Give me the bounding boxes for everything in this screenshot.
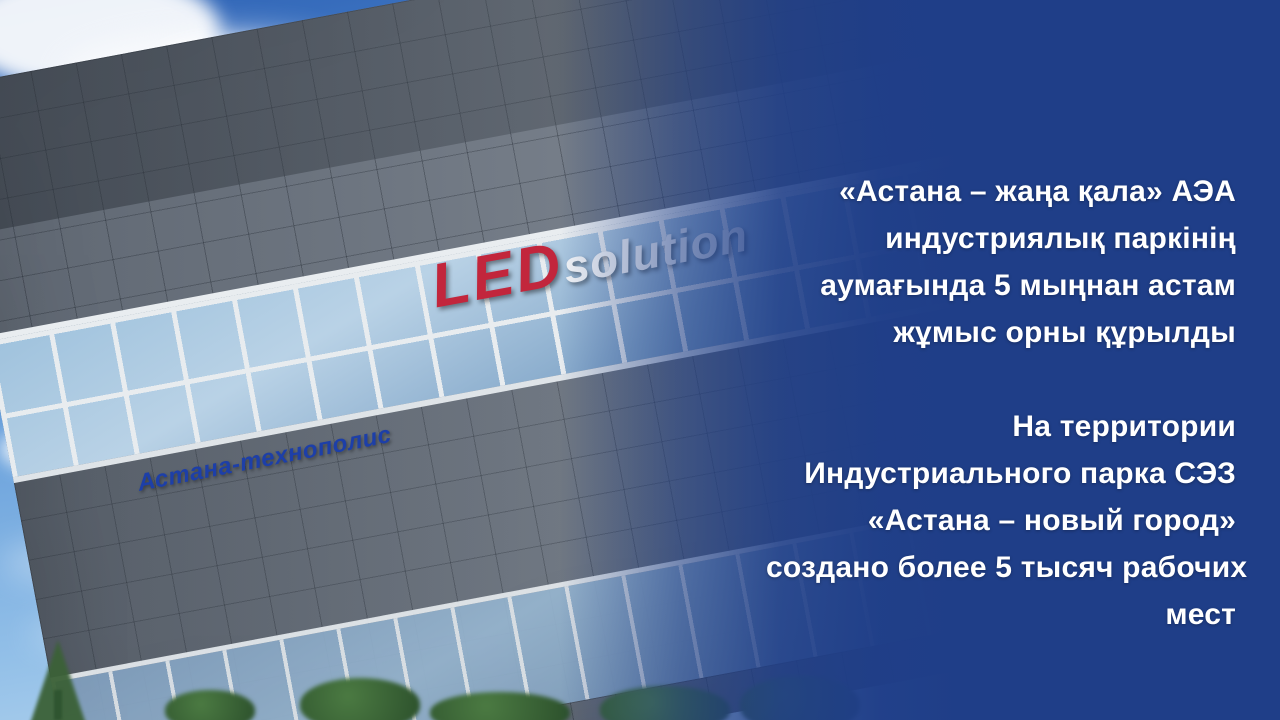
kazakh-line-3: аумағында 5 мыңнан астам xyxy=(766,262,1236,309)
russian-line-2: Индустриального парка СЭЗ xyxy=(766,450,1236,497)
kazakh-line-1: «Астана – жаңа қала» АЭА xyxy=(766,168,1236,215)
russian-line-1: На территории xyxy=(766,403,1236,450)
russian-line-3: «Астана – новый город» xyxy=(766,497,1236,544)
russian-line-4: создано более 5 тысяч рабочих xyxy=(766,544,1236,591)
kazakh-text-block: «Астана – жаңа қала» АЭА индустриялық па… xyxy=(766,168,1236,356)
news-graphic-canvas: LEDsolution Астана-технополис «Астана – … xyxy=(0,0,1280,720)
russian-text-block: На территории Индустриального парка СЭЗ … xyxy=(766,403,1236,638)
overlay-copy: «Астана – жаңа қала» АЭА индустриялық па… xyxy=(766,168,1236,638)
kazakh-line-4: жұмыс орны құрылды xyxy=(766,309,1236,356)
russian-line-5: мест xyxy=(766,591,1236,638)
kazakh-line-2: индустриялық паркінің xyxy=(766,215,1236,262)
